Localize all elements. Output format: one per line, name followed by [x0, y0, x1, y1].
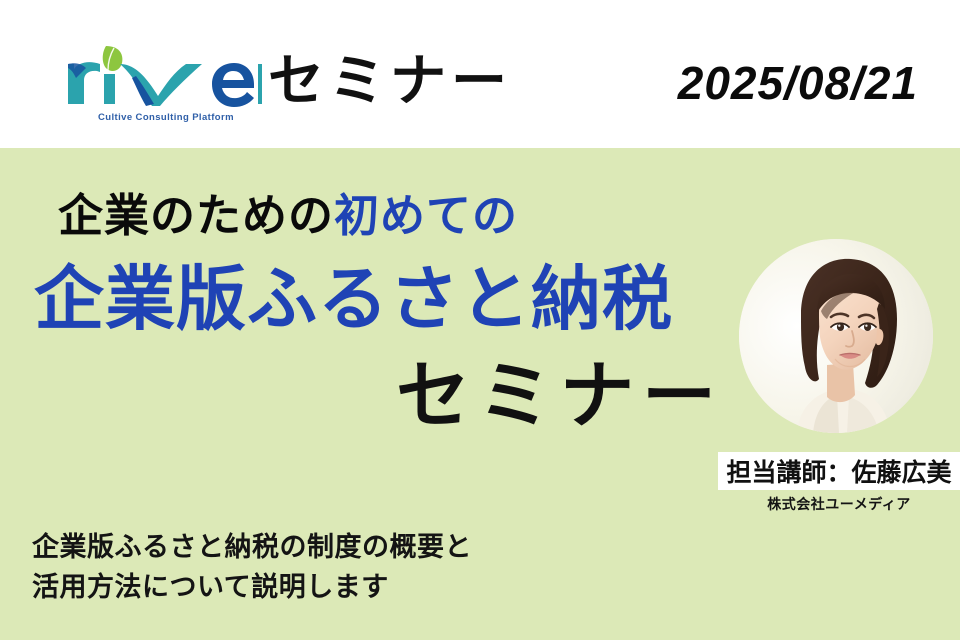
- title-line-1-plain: 企業のための: [58, 190, 334, 241]
- description-line-2: 活用方法について説明します: [32, 567, 472, 607]
- title-line-3: セミナー: [396, 356, 724, 438]
- brand-logo: Cultive Consulting Platform: [62, 44, 262, 136]
- title-line-2: 企業版ふるさと納税: [34, 258, 673, 340]
- logo-tagline: Cultive Consulting Platform: [76, 112, 256, 123]
- title-line-1: 企業のための初めての: [58, 190, 518, 242]
- river-wordmark-icon: [62, 44, 262, 110]
- portrait-image: [739, 239, 933, 433]
- seminar-banner: Cultive Consulting Platform セミナー 2025/08…: [0, 0, 960, 640]
- description-text: 企業版ふるさと納税の制度の概要と 活用方法について説明します: [32, 527, 472, 607]
- header-seminar-label: セミナー: [268, 50, 512, 112]
- description-line-1: 企業版ふるさと納税の制度の概要と: [32, 527, 472, 567]
- title-line-1-highlight: 初めての: [334, 190, 518, 241]
- header-bar: Cultive Consulting Platform セミナー 2025/08…: [0, 0, 960, 148]
- instructor-name: 担当講師：佐藤広美: [718, 452, 960, 490]
- instructor-company: 株式会社ユーメディア: [718, 494, 960, 514]
- seminar-date: 2025/08/21: [678, 56, 918, 110]
- instructor-portrait: [739, 239, 933, 433]
